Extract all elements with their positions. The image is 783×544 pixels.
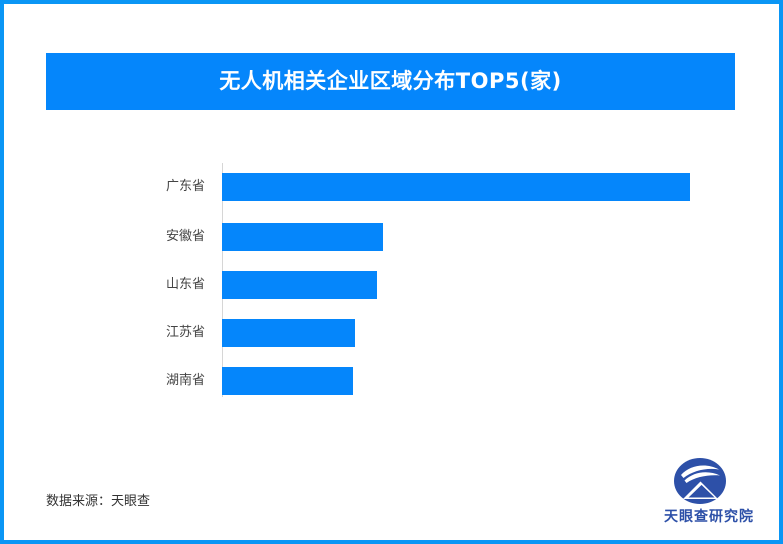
tianyancha-eye-mark-icon bbox=[674, 458, 726, 504]
brand-logo: 天眼查研究院 bbox=[650, 458, 770, 530]
bar-row: 安徽省 bbox=[0, 223, 783, 251]
category-label: 安徽省 bbox=[166, 223, 205, 251]
bar-row: 广东省 bbox=[0, 173, 783, 201]
bar-row: 山东省 bbox=[0, 271, 783, 299]
bar-广东省[interactable] bbox=[222, 173, 690, 201]
bar-row: 湖南省 bbox=[0, 367, 783, 395]
bar-row: 江苏省 bbox=[0, 319, 783, 347]
category-label: 江苏省 bbox=[166, 319, 205, 347]
category-label: 湖南省 bbox=[166, 367, 205, 395]
bar-山东省[interactable] bbox=[222, 271, 377, 299]
category-label: 山东省 bbox=[166, 271, 205, 299]
brand-logo-text: 天眼查研究院 bbox=[650, 506, 768, 526]
bar-江苏省[interactable] bbox=[222, 319, 355, 347]
bar-湖南省[interactable] bbox=[222, 367, 353, 395]
data-source-label: 数据来源：天眼查 bbox=[46, 490, 150, 509]
category-label: 广东省 bbox=[166, 173, 205, 201]
chart-canvas: 无人机相关企业区域分布TOP5(家) 广东省安徽省山东省江苏省湖南省 数据来源：… bbox=[0, 0, 783, 544]
bar-安徽省[interactable] bbox=[222, 223, 383, 251]
